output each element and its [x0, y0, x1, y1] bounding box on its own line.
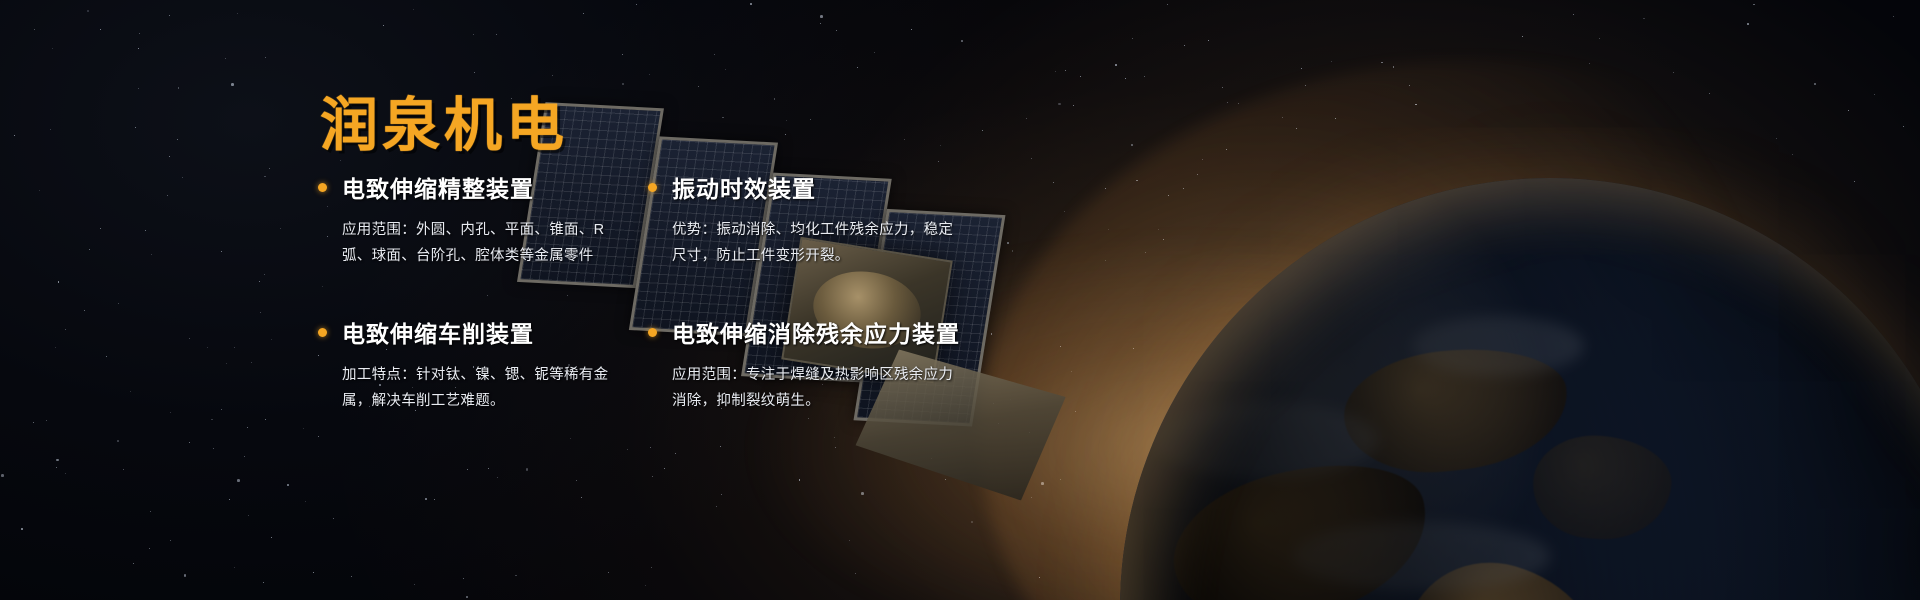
bullet-dot-icon	[648, 328, 657, 337]
feature-heading-row: 电致伸缩消除残余应力装置	[648, 315, 978, 349]
feature-heading: 电致伸缩精整装置	[342, 170, 534, 204]
bullet-dot-icon	[318, 183, 327, 192]
banner-content: 润泉机电 电致伸缩精整装置 应用范围：外圆、内孔、平面、锥面、R弧、球面、台阶孔…	[0, 0, 1920, 600]
feature-heading-row: 振动时效装置	[648, 170, 978, 204]
feature-block-electrostrictive-turning[interactable]: 电致伸缩车削装置 加工特点：针对钛、镍、锶、铌等稀有金属，解决车削工艺难题。	[318, 315, 648, 414]
bullet-dot-icon	[648, 183, 657, 192]
feature-heading: 振动时效装置	[672, 170, 816, 204]
feature-column-left: 电致伸缩精整装置 应用范围：外圆、内孔、平面、锥面、R弧、球面、台阶孔、腔体类等…	[318, 170, 648, 444]
feature-block-residual-stress-relief[interactable]: 电致伸缩消除残余应力装置 应用范围：专注于焊缝及热影响区残余应力消除，抑制裂纹萌…	[648, 315, 978, 414]
feature-column-right: 振动时效装置 优势：振动消除、均化工件残余应力，稳定尺寸，防止工件变形开裂。 电…	[648, 170, 978, 444]
feature-description: 优势：振动消除、均化工件残余应力，稳定尺寸，防止工件变形开裂。	[672, 217, 962, 269]
feature-description: 加工特点：针对钛、镍、锶、铌等稀有金属，解决车削工艺难题。	[342, 362, 632, 414]
feature-heading-row: 电致伸缩车削装置	[318, 315, 648, 349]
page-title: 润泉机电	[320, 78, 568, 162]
feature-description: 应用范围：专注于焊缝及热影响区残余应力消除，抑制裂纹萌生。	[672, 362, 962, 414]
feature-description: 应用范围：外圆、内孔、平面、锥面、R弧、球面、台阶孔、腔体类等金属零件	[342, 217, 632, 269]
feature-block-electrostrictive-finishing[interactable]: 电致伸缩精整装置 应用范围：外圆、内孔、平面、锥面、R弧、球面、台阶孔、腔体类等…	[318, 170, 648, 269]
bullet-dot-icon	[318, 328, 327, 337]
feature-heading: 电致伸缩消除残余应力装置	[672, 315, 960, 349]
feature-heading-row: 电致伸缩精整装置	[318, 170, 648, 204]
feature-heading: 电致伸缩车削装置	[342, 315, 534, 349]
hero-banner: 润泉机电 电致伸缩精整装置 应用范围：外圆、内孔、平面、锥面、R弧、球面、台阶孔…	[0, 0, 1920, 600]
feature-block-vibration-aging[interactable]: 振动时效装置 优势：振动消除、均化工件残余应力，稳定尺寸，防止工件变形开裂。	[648, 170, 978, 269]
